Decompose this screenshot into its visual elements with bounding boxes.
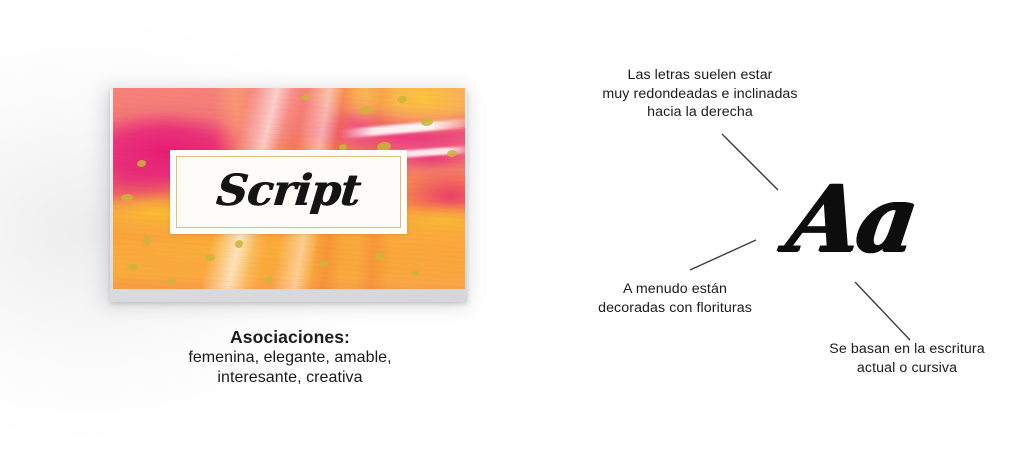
caption-title: Asociaciones:: [120, 326, 460, 348]
annotation-top-line-1: Las letras suelen estar: [550, 66, 850, 85]
card-script-wordmark: Script: [166, 149, 412, 233]
typeface-specimen-aa: Aa: [764, 164, 939, 274]
caption-line-1: femenina, elegante, amable,: [120, 348, 460, 368]
annotation-left-line-2: decoradas con florituras: [555, 299, 795, 318]
card-label-plaque: Script: [170, 150, 407, 234]
annotation-bottom: Se basan en la escritura actual o cursiv…: [782, 340, 1024, 377]
card-front-face: Script: [113, 88, 465, 289]
caption-line-2: interesante, creativa: [120, 368, 460, 388]
leader-line-left: [690, 240, 756, 270]
annotation-left-line-1: A menudo están: [555, 280, 795, 299]
slide-canvas: Script Asociaciones: femenina, elegante,…: [0, 0, 1024, 467]
annotation-bottom-line-2: actual o cursiva: [782, 359, 1024, 378]
leader-line-bottom: [855, 282, 910, 340]
annotation-top: Las letras suelen estar muy redondeadas …: [550, 66, 850, 122]
leader-line-top: [722, 134, 778, 190]
annotation-bottom-line-1: Se basan en la escritura: [782, 340, 1024, 359]
annotation-left: A menudo están decoradas con florituras: [555, 280, 795, 317]
business-card-figure: Script: [108, 84, 472, 306]
card-caption-block: Asociaciones: femenina, elegante, amable…: [120, 326, 460, 388]
annotation-top-line-2: muy redondeadas e inclinadas: [550, 85, 850, 104]
annotation-top-line-3: hacia la derecha: [550, 103, 850, 122]
specimen-annotation-group: Aa Las letras suelen estar muy redondead…: [520, 52, 1024, 412]
